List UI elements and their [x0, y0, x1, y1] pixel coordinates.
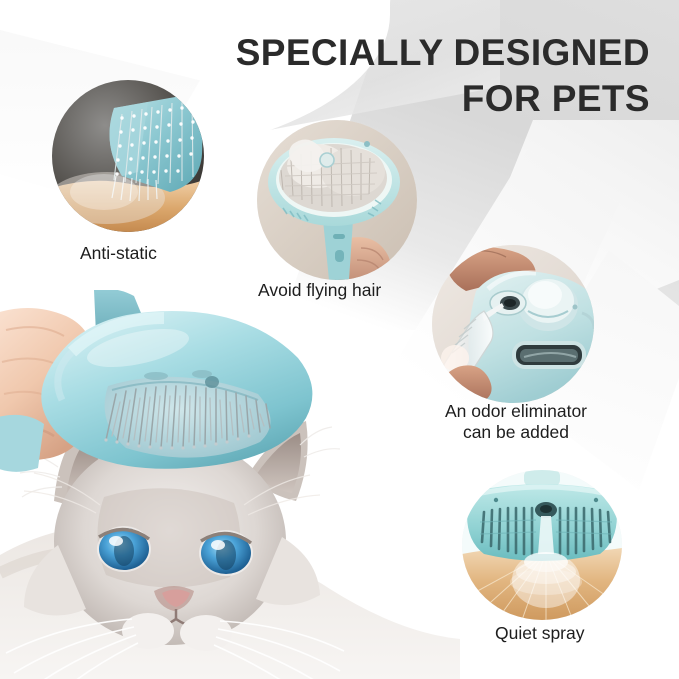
- product-infographic: SPECIALLY DESIGNED FOR PETS: [0, 0, 679, 679]
- headline-line-1: SPECIALLY DESIGNED: [236, 32, 650, 73]
- feature-image-avoid-flying-hair: [257, 120, 417, 280]
- feature-caption-quiet-spray: Quiet spray: [495, 623, 584, 644]
- feature-image-odor-eliminator: [432, 245, 594, 403]
- hero-hand-with-brush: [0, 290, 328, 520]
- feature-caption-anti-static: Anti-static: [80, 243, 157, 264]
- feature-image-quiet-spray: [462, 470, 622, 620]
- page-title: SPECIALLY DESIGNED FOR PETS: [200, 30, 650, 122]
- feature-image-anti-static: [52, 80, 204, 232]
- headline-line-2: FOR PETS: [200, 76, 650, 122]
